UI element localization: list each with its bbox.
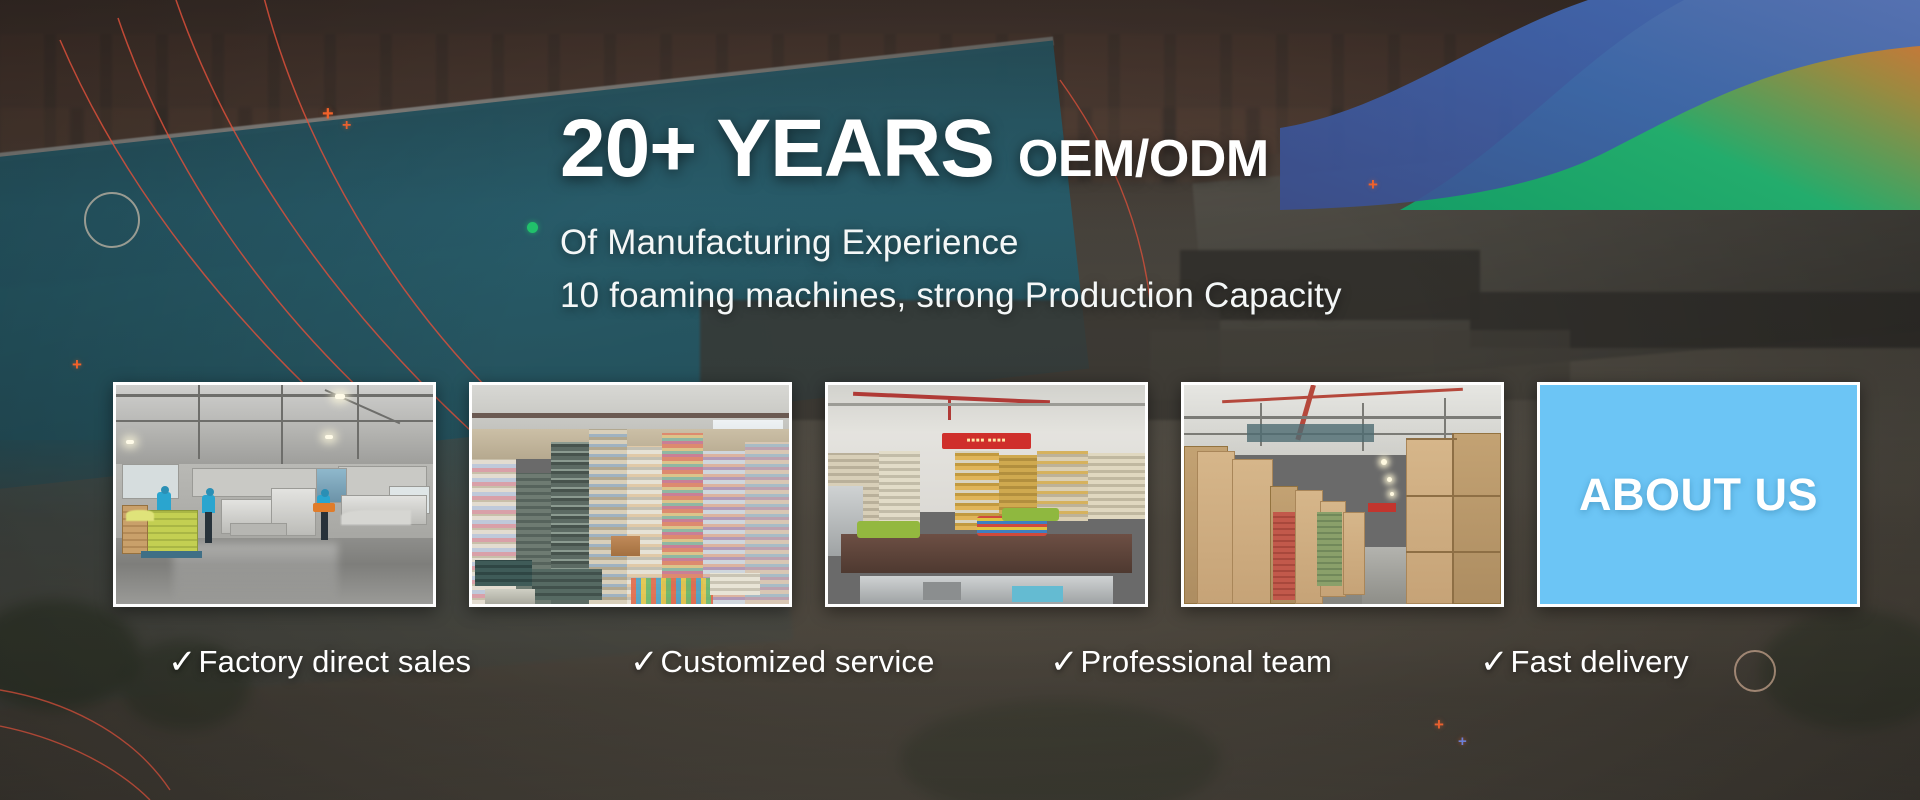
loose-tray-pile-1 (475, 560, 532, 586)
carton-stack-left-3 (1232, 459, 1273, 604)
thumbnail-carton-warehouse[interactable] (1181, 382, 1504, 607)
production-hall-image (116, 385, 433, 604)
carton-stack-right-2 (1453, 433, 1501, 604)
hall-ceiling (116, 385, 433, 468)
feature-item-professional-team: ✓ Professional team (1050, 644, 1480, 680)
tray-warehouse-image (472, 385, 789, 604)
check-icon: ✓ (1050, 645, 1079, 679)
carton-lamp-3 (1390, 492, 1394, 496)
feature-item-fast-delivery: ✓ Fast delivery (1480, 644, 1689, 680)
feature-label: Fast delivery (1511, 644, 1689, 680)
hall-lamp-3 (126, 440, 134, 444)
loose-tray-pile-4 (710, 573, 761, 595)
check-icon: ✓ (1480, 645, 1509, 679)
headline-row: 20+ YEARS OEM/ODM (560, 108, 1420, 190)
subtitle-block: Of Manufacturing Experience 10 foaming m… (560, 216, 1420, 322)
hall-column-3 (357, 385, 359, 459)
banner-root: + + + + + + 20+ YEARS OEM/ODM Of Manufac… (0, 0, 1920, 800)
carton-lamp-1 (1381, 459, 1387, 465)
carton-post-3 (1444, 398, 1446, 442)
subtitle-line-1: Of Manufacturing Experience (560, 216, 1420, 269)
thumbnail-production-hall[interactable] (113, 382, 436, 607)
carton-stack-right-1 (1406, 438, 1457, 604)
hall-worker-2-head (206, 488, 214, 496)
carton-stack-left-7 (1343, 512, 1365, 595)
hall-beam-2 (116, 420, 433, 422)
carton-green-tray-stack (1317, 512, 1342, 586)
packing-machine-part (923, 582, 961, 600)
feature-label: Customized service (661, 644, 935, 680)
subtitle-line-2: 10 foaming machines, strong Production C… (560, 269, 1420, 322)
hall-lamp-1 (335, 394, 345, 399)
thumbnail-tray-warehouse[interactable] (469, 382, 792, 607)
hall-column-2 (281, 385, 283, 464)
carton-stack-left-2 (1197, 451, 1235, 604)
carton-red-tray-stack (1273, 512, 1295, 600)
hall-worker-2-legs (205, 512, 212, 543)
hall-worker-3-box (313, 503, 335, 512)
carton-warehouse-image (1184, 385, 1501, 604)
feature-label: Professional team (1081, 644, 1333, 680)
carton-truss-1 (1184, 416, 1501, 419)
colourful-tray-row (631, 578, 713, 604)
packing-ceiling-beam (828, 403, 1145, 406)
loose-tray-pile-2 (532, 569, 602, 600)
hall-worker-3-legs (321, 512, 328, 540)
about-us-label: ABOUT US (1579, 469, 1818, 521)
carton-far-banner (1368, 503, 1397, 512)
thumbnail-strip: ■■■■ ■■■■ (113, 382, 1860, 607)
packing-line-image: ■■■■ ■■■■ (828, 385, 1145, 604)
carton-ceiling-duct (1247, 424, 1374, 442)
hall-worker-3-head (321, 489, 329, 497)
thumbnail-packing-line[interactable]: ■■■■ ■■■■ (825, 382, 1148, 607)
hall-pallet-base (141, 551, 201, 558)
packing-tray-stack-6 (1088, 453, 1145, 519)
feature-item-customized-service: ✓ Customized service (630, 644, 1050, 680)
hall-duct (341, 510, 411, 525)
hall-worker-1-body (157, 492, 171, 510)
check-icon: ✓ (168, 645, 197, 679)
hall-column-1 (198, 385, 200, 459)
packing-machine-base (860, 576, 1114, 604)
check-icon: ✓ (630, 645, 659, 679)
carton-right-seam-1 (1406, 438, 1457, 440)
loose-tray-pile-3 (485, 589, 536, 604)
packing-green-bundle-2 (1002, 508, 1059, 521)
hall-foam-sheet (126, 510, 155, 521)
warehouse-rail-1 (472, 413, 789, 418)
about-us-button[interactable]: ABOUT US (1537, 382, 1860, 607)
packing-slogan-banner: ■■■■ ■■■■ (942, 433, 1031, 448)
hall-worker-2-body (202, 495, 215, 513)
carton-lamp-2 (1387, 477, 1392, 482)
feature-row: ✓ Factory direct sales ✓ Customized serv… (168, 644, 1808, 680)
packing-crane-hoist (948, 398, 951, 420)
packing-conveyor-belt (841, 534, 1133, 573)
packing-green-bundle-1 (857, 521, 920, 539)
feature-label: Factory direct sales (199, 644, 472, 680)
hall-beam-1 (116, 394, 433, 397)
headline-oem-odm: OEM/ODM (1018, 133, 1269, 185)
packing-machine-panel (1012, 586, 1063, 601)
hall-conveyor (230, 523, 287, 536)
headline-years: 20+ YEARS (560, 108, 994, 190)
headline-block: 20+ YEARS OEM/ODM Of Manufacturing Exper… (560, 108, 1420, 322)
carton-right-seam-4 (1452, 433, 1454, 604)
cardboard-box (611, 536, 640, 556)
feature-item-factory-direct-sales: ✓ Factory direct sales (168, 644, 630, 680)
